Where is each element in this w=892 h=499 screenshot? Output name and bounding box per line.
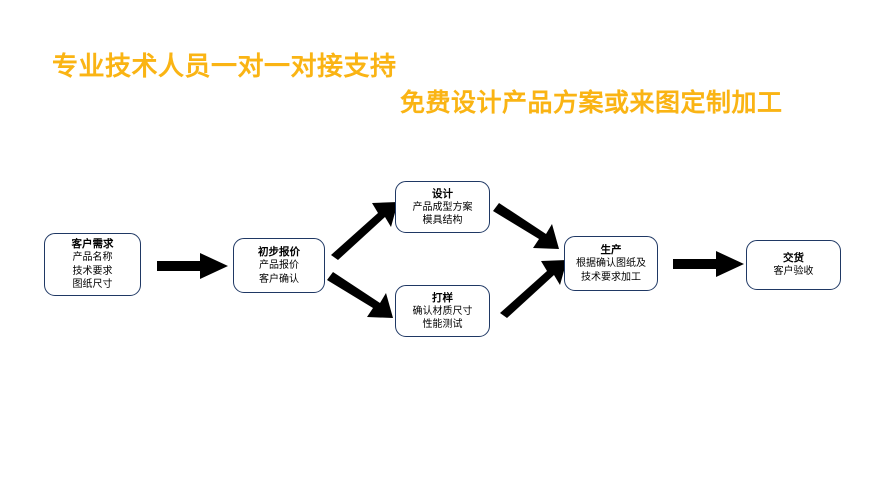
arrow-demand-to-quote (157, 253, 228, 279)
headline-primary: 专业技术人员一对一对接支持 (52, 52, 397, 82)
flow-node-quote-line-2: 客户确认 (259, 273, 299, 287)
flow-node-delivery-line-1: 客户验收 (774, 265, 814, 279)
flow-node-demand[interactable]: 客户需求 产品名称 技术要求 图纸尺寸 (44, 233, 141, 296)
arrow-quote-to-sample (327, 272, 393, 318)
headline-secondary: 免费设计产品方案或来图定制加工 (400, 88, 783, 118)
flow-node-produce-title: 生产 (601, 243, 622, 257)
flow-node-design-title: 设计 (432, 187, 453, 201)
flow-node-delivery-title: 交货 (783, 251, 804, 265)
flow-node-sample-title: 打样 (432, 291, 453, 305)
flow-node-design-line-1: 产品成型方案 (413, 201, 473, 215)
flow-node-delivery[interactable]: 交货 客户验收 (746, 240, 841, 290)
flow-node-produce-line-2: 技术要求加工 (581, 271, 641, 285)
flow-node-quote-title: 初步报价 (258, 245, 300, 259)
flow-node-sample-line-2: 性能测试 (423, 318, 463, 332)
arrow-design-to-produce (493, 203, 559, 249)
flow-node-quote-line-1: 产品报价 (259, 259, 299, 273)
flow-node-produce-line-1: 根据确认图纸及 (576, 257, 646, 271)
arrow-quote-to-design (331, 202, 398, 260)
flow-node-demand-title: 客户需求 (72, 237, 114, 251)
arrow-produce-to-delivery (673, 251, 744, 277)
flow-node-demand-line-2: 技术要求 (73, 265, 113, 279)
flow-node-quote[interactable]: 初步报价 产品报价 客户确认 (233, 238, 325, 293)
flow-node-sample-line-1: 确认材质尺寸 (413, 305, 473, 319)
arrow-sample-to-produce (500, 260, 567, 318)
flow-node-produce[interactable]: 生产 根据确认图纸及 技术要求加工 (564, 236, 658, 291)
flow-node-design[interactable]: 设计 产品成型方案 模具结构 (395, 181, 490, 233)
flow-node-demand-line-3: 图纸尺寸 (73, 278, 113, 292)
flow-node-demand-line-1: 产品名称 (73, 251, 113, 265)
slide-canvas: 专业技术人员一对一对接支持 免费设计产品方案或来图定制加工 客户需求 产品名称 … (0, 0, 892, 499)
flow-node-design-line-2: 模具结构 (423, 214, 463, 228)
flow-node-sample[interactable]: 打样 确认材质尺寸 性能测试 (395, 285, 490, 337)
